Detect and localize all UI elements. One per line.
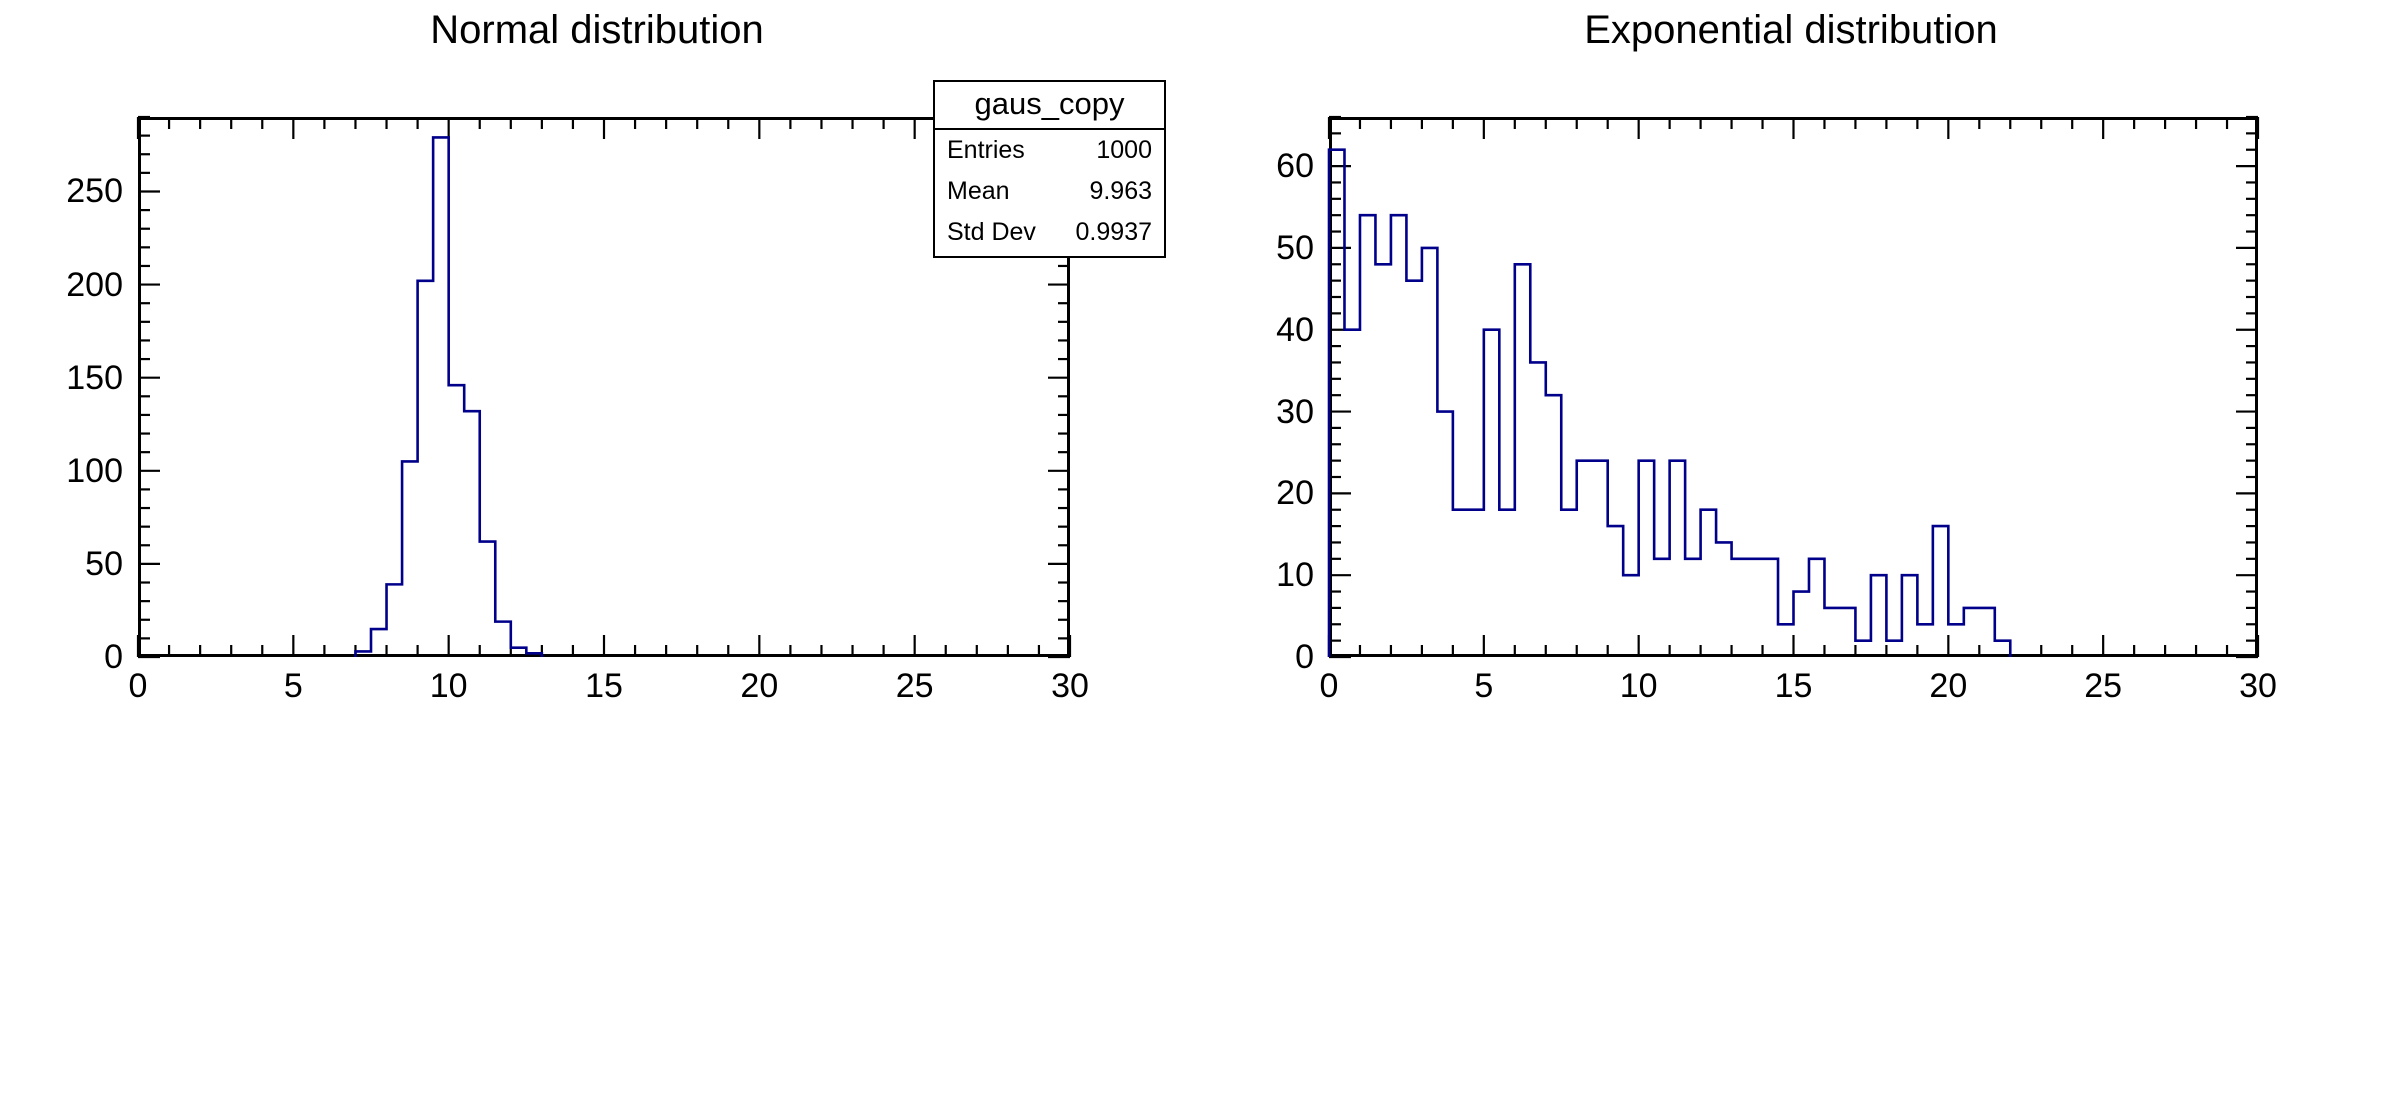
x-axis-labels-exponential: 051015202530	[0, 0, 2388, 1116]
x-tick-label: 0	[1320, 669, 1339, 703]
stats-label-entries: Entries	[947, 130, 1025, 171]
stats-box-normal[interactable]: gaus_copy Entries 1000 Mean 9.963 Std De…	[933, 80, 1166, 258]
stats-row-mean: Mean 9.963	[935, 171, 1164, 212]
x-tick-label: 30	[2239, 669, 2277, 703]
x-tick-label: 20	[1929, 669, 1967, 703]
stats-label-mean: Mean	[947, 171, 1010, 212]
x-tick-label: 10	[1620, 669, 1658, 703]
stats-value-stddev: 0.9937	[1076, 212, 1152, 253]
pad-exponential-distribution[interactable]: Exponential distribution 0102030405060 0…	[1194, 0, 2388, 1116]
stats-title-normal: gaus_copy	[935, 82, 1164, 130]
x-tick-label: 25	[2084, 669, 2122, 703]
stats-value-mean: 9.963	[1089, 171, 1152, 212]
stats-label-stddev: Std Dev	[947, 212, 1036, 253]
x-tick-label: 15	[1775, 669, 1813, 703]
x-tick-label: 5	[1474, 669, 1493, 703]
stats-row-stddev: Std Dev 0.9937	[935, 212, 1164, 253]
stats-value-entries: 1000	[1096, 130, 1152, 171]
stats-row-entries: Entries 1000	[935, 130, 1164, 171]
root-canvas: Normal distribution 050100150200250 0510…	[0, 0, 2388, 1116]
